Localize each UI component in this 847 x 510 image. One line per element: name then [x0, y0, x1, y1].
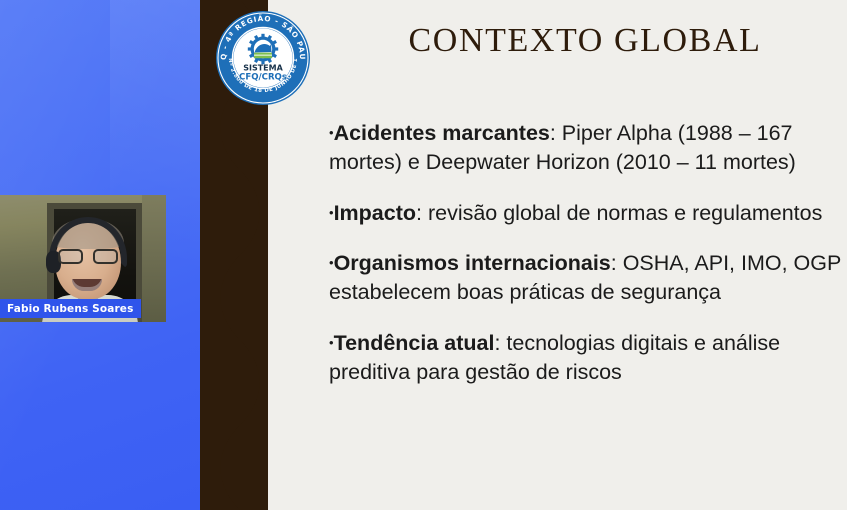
- video-participant-pane[interactable]: Fabio Rubens Soares: [0, 0, 200, 510]
- slide-bullet-item: •Acidentes marcantes: Piper Alpha (1988 …: [329, 119, 845, 177]
- seal-center-line-2: CFQ/CRQs: [239, 73, 287, 83]
- bullet-lead-text: Impacto: [334, 201, 416, 225]
- bullet-lead-text: Acidentes marcantes: [334, 121, 550, 145]
- slide-title: CONTEXTO GLOBAL: [330, 22, 840, 60]
- webcam-right-wall: [142, 195, 166, 322]
- glasses-icon: [58, 249, 118, 264]
- participant-video-tile[interactable]: Fabio Rubens Soares: [0, 195, 166, 322]
- participant-name-badge: Fabio Rubens Soares: [0, 299, 141, 318]
- bullet-body-text: : revisão global de normas e regulamento…: [416, 201, 822, 225]
- slide-bullet-item: •Tendência atual: tecnologias digitais e…: [329, 329, 845, 387]
- slide-bullet-item: •Impacto: revisão global de normas e reg…: [329, 199, 845, 228]
- bullet-lead-text: Tendência atual: [334, 331, 495, 355]
- slide-bullet-item: •Organismos internacionais: OSHA, API, I…: [329, 249, 845, 307]
- bullet-lead-text: Organismos internacionais: [334, 251, 611, 275]
- crq-seal-logo: CRQ - 4ª REGIÃO - SÃO PAULO LEI Nº 2.800…: [213, 8, 313, 108]
- screen-capture-root: CONTEXTO GLOBAL •Acidentes marcantes: Pi…: [0, 0, 847, 510]
- slide-bullet-list: •Acidentes marcantes: Piper Alpha (1988 …: [329, 119, 845, 409]
- seal-center-line-1: SISTEMA: [243, 64, 283, 73]
